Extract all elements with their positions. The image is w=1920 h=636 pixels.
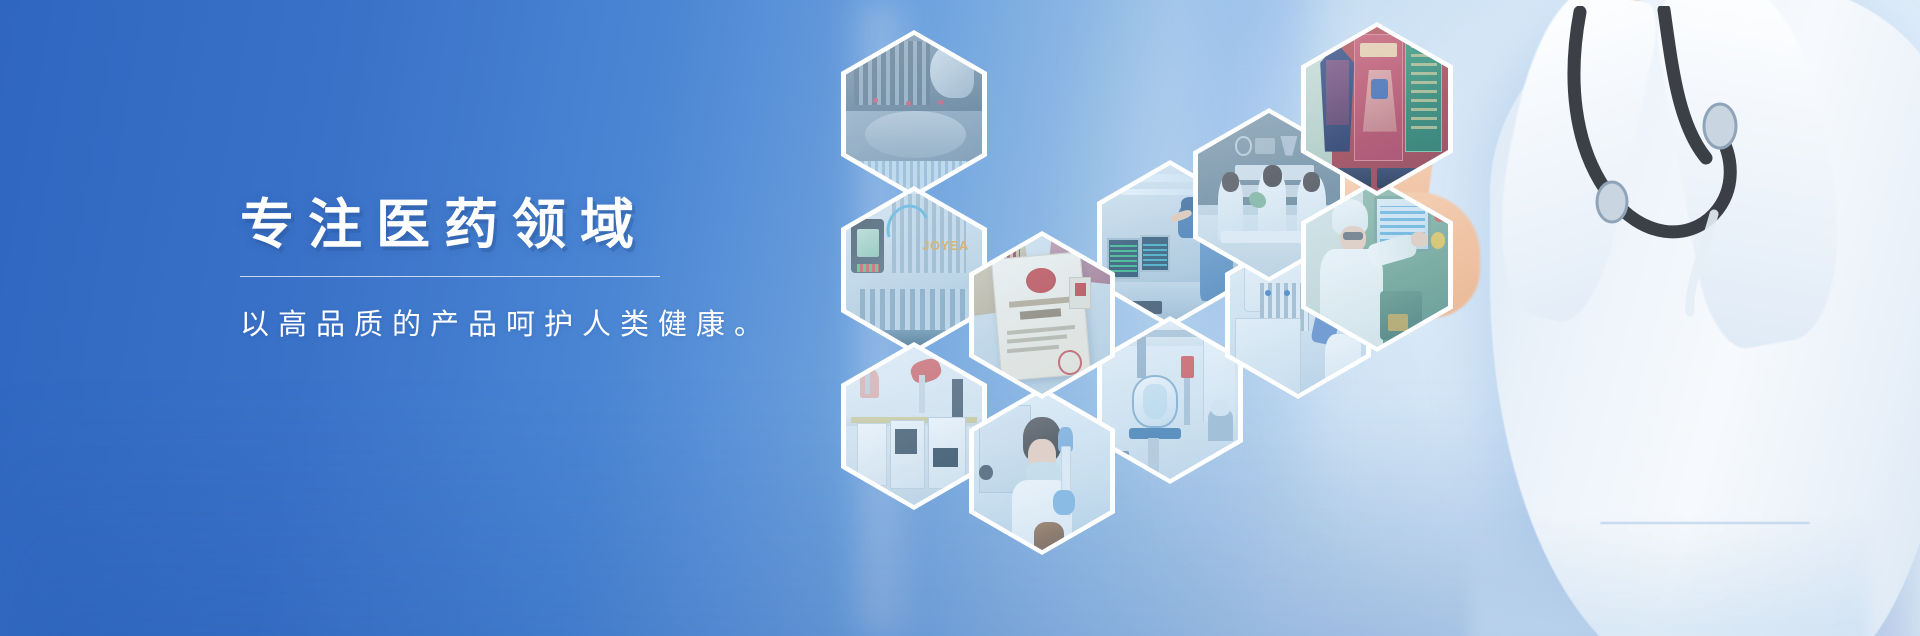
- title-divider: [240, 276, 660, 277]
- hex-filling-machine[interactable]: [841, 30, 987, 198]
- page-subtitle: 以高品质的产品呵护人类健康。: [240, 301, 880, 343]
- hex-lab-technician[interactable]: [969, 387, 1115, 555]
- hex-award-certificate[interactable]: [969, 231, 1115, 399]
- page-title: 专注医药领域: [240, 196, 880, 254]
- hex-pilot-plant[interactable]: [1097, 316, 1243, 484]
- hex-analytical-lab[interactable]: [841, 342, 987, 510]
- hero-text-block: 专注医药领域 以高品质的产品呵护人类健康。: [240, 196, 880, 343]
- hero-banner: JOYEA: [0, 0, 1920, 636]
